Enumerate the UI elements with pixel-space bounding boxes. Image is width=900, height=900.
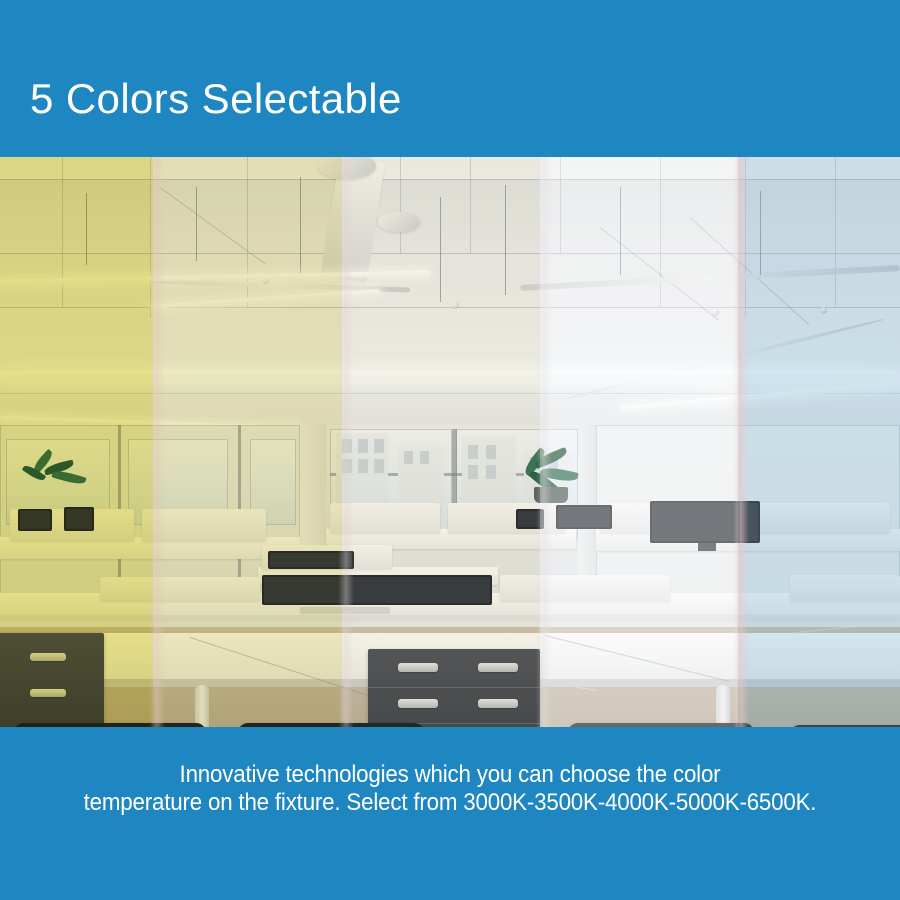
band-6500k-glow [738, 157, 900, 727]
band-3500k-soft-white [153, 157, 342, 727]
caption-line-2: temperature on the fixture. Select from … [32, 789, 869, 817]
band-seam-5000k-6500k [733, 157, 749, 727]
product-feature-poster: 5 Colors Selectable [0, 0, 900, 900]
band-4000k-neutral-white [342, 157, 540, 727]
band-seam-3000k-3500k [149, 157, 165, 727]
band-seam-4000k-5000k [536, 157, 552, 727]
color-temperature-bands [0, 157, 900, 727]
band-3000k-warm-white [0, 157, 153, 727]
header-banner: 5 Colors Selectable [0, 0, 900, 157]
office-photo [0, 157, 900, 727]
caption-line-1: Innovative technologies which you can ch… [32, 761, 869, 789]
band-seam-3500k-4000k [338, 157, 354, 727]
page-title: 5 Colors Selectable [30, 78, 402, 120]
band-5000k-glow [540, 157, 738, 727]
caption-banner: Innovative technologies which you can ch… [0, 727, 900, 900]
